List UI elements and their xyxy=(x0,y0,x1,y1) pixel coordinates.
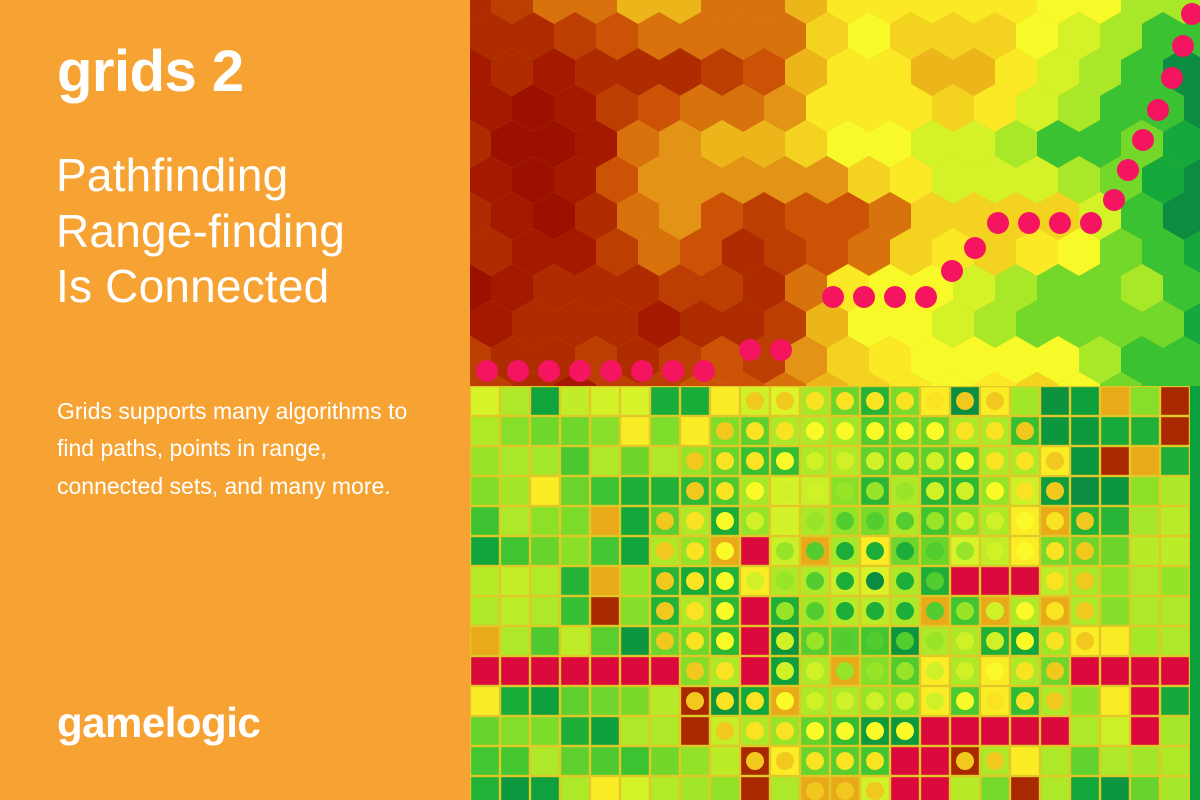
range-dot xyxy=(746,692,764,710)
grid-cell xyxy=(561,567,590,596)
grid-cell xyxy=(921,777,950,800)
range-dot xyxy=(836,782,854,800)
grid-cell xyxy=(1101,387,1130,416)
grid-cell xyxy=(711,387,740,416)
grid-cell xyxy=(531,627,560,656)
grid-cell xyxy=(1101,567,1130,596)
range-dot xyxy=(656,632,674,650)
grid-cell xyxy=(1131,747,1160,776)
grid-cell xyxy=(1071,777,1100,800)
path-dot xyxy=(915,286,937,308)
range-dot xyxy=(926,632,944,650)
range-dot xyxy=(986,452,1004,470)
grid-cell xyxy=(501,627,530,656)
range-dot xyxy=(1046,572,1064,590)
grid-cell xyxy=(471,747,500,776)
grid-cell xyxy=(501,777,530,800)
range-dot xyxy=(896,392,914,410)
grid-cell xyxy=(1131,777,1160,800)
path-dot xyxy=(1103,189,1125,211)
hex-pathfinding-demo xyxy=(470,0,1200,386)
range-dot xyxy=(866,512,884,530)
range-dot xyxy=(866,452,884,470)
grid-cell xyxy=(591,477,620,506)
range-dot xyxy=(686,572,704,590)
range-dot xyxy=(956,392,974,410)
grid-cell xyxy=(1131,567,1160,596)
range-dot xyxy=(956,512,974,530)
grid-cell xyxy=(591,747,620,776)
grid-cell xyxy=(561,507,590,536)
range-dot xyxy=(956,452,974,470)
grid-cell xyxy=(471,777,500,800)
range-dot xyxy=(836,512,854,530)
path-dot xyxy=(631,360,653,382)
grid-cell xyxy=(891,777,920,800)
grid-cell xyxy=(531,537,560,566)
range-dot xyxy=(956,692,974,710)
grid-cell xyxy=(591,627,620,656)
grid-cell xyxy=(621,687,650,716)
range-dot xyxy=(776,692,794,710)
grid-cell xyxy=(1101,447,1130,476)
grid-cell xyxy=(651,777,680,800)
path-dot xyxy=(822,286,844,308)
range-dot xyxy=(866,542,884,560)
grid-cell xyxy=(501,597,530,626)
grid-cell xyxy=(681,387,710,416)
grid-cell xyxy=(771,777,800,800)
grid-cell xyxy=(531,477,560,506)
grid-cell xyxy=(561,657,590,686)
grid-cell xyxy=(1071,717,1100,746)
grid-cell xyxy=(1101,747,1130,776)
square-range-finding-demo xyxy=(470,386,1200,800)
range-dot xyxy=(896,692,914,710)
range-dot xyxy=(716,602,734,620)
range-dot xyxy=(746,452,764,470)
grid-cell xyxy=(1071,417,1100,446)
path-dot xyxy=(569,360,591,382)
range-dot xyxy=(956,542,974,560)
grid-cell xyxy=(1011,717,1040,746)
range-dot xyxy=(776,722,794,740)
range-dot xyxy=(776,512,794,530)
path-dot xyxy=(538,360,560,382)
grid-cell xyxy=(1101,597,1130,626)
range-dot xyxy=(836,392,854,410)
range-dot xyxy=(1016,542,1034,560)
grid-cell xyxy=(621,417,650,446)
banner-root: grids 2 Pathfinding Range-finding Is Con… xyxy=(0,0,1200,800)
range-dot xyxy=(866,722,884,740)
range-dot xyxy=(956,422,974,440)
range-dot xyxy=(926,692,944,710)
grid-cell xyxy=(561,537,590,566)
grid-cell xyxy=(531,777,560,800)
range-dot xyxy=(836,572,854,590)
grid-cell xyxy=(501,717,530,746)
grid-cell xyxy=(1161,777,1190,800)
range-dot xyxy=(776,752,794,770)
range-dot xyxy=(746,422,764,440)
range-dot xyxy=(746,722,764,740)
path-dot xyxy=(1161,67,1183,89)
range-dot xyxy=(986,512,1004,530)
range-dot xyxy=(926,542,944,560)
grid-cell xyxy=(561,387,590,416)
range-dot xyxy=(806,422,824,440)
range-dot xyxy=(686,452,704,470)
grid-cell xyxy=(471,717,500,746)
grid-cell xyxy=(1161,747,1190,776)
path-dot xyxy=(476,360,498,382)
grid-cell xyxy=(501,507,530,536)
range-dot xyxy=(896,602,914,620)
range-dot xyxy=(1046,602,1064,620)
range-dot xyxy=(746,512,764,530)
range-dot xyxy=(866,392,884,410)
grid-cell xyxy=(471,507,500,536)
path-dot xyxy=(662,360,684,382)
range-dot xyxy=(776,572,794,590)
range-dot xyxy=(986,542,1004,560)
range-dot xyxy=(806,572,824,590)
grid-cell xyxy=(1041,417,1070,446)
grid-cell xyxy=(471,567,500,596)
path-dot xyxy=(739,339,761,361)
grid-cell xyxy=(1101,507,1130,536)
path-dot xyxy=(600,360,622,382)
grid-cell xyxy=(1131,627,1160,656)
grid-cell xyxy=(621,657,650,686)
grid-cell xyxy=(741,627,770,656)
range-dot xyxy=(926,572,944,590)
grid-cell xyxy=(1131,417,1160,446)
range-dot xyxy=(686,512,704,530)
grid-cell xyxy=(471,477,500,506)
grid-cell xyxy=(1161,477,1190,506)
range-dot xyxy=(926,602,944,620)
grid-cell xyxy=(1131,387,1160,416)
range-dot xyxy=(806,632,824,650)
range-dot xyxy=(1046,662,1064,680)
range-dot xyxy=(776,662,794,680)
grid-cell xyxy=(1011,777,1040,800)
range-dot xyxy=(776,632,794,650)
grid-cell xyxy=(621,507,650,536)
range-dot xyxy=(1046,452,1064,470)
grid-cell xyxy=(1161,717,1190,746)
grid-cell xyxy=(1071,657,1100,686)
grid-cell xyxy=(951,567,980,596)
range-dot xyxy=(656,602,674,620)
range-dot xyxy=(776,602,794,620)
range-dot xyxy=(656,512,674,530)
grid-cell xyxy=(921,717,950,746)
range-dot xyxy=(926,392,944,410)
range-dot xyxy=(686,662,704,680)
grid-cell xyxy=(651,387,680,416)
range-dot xyxy=(986,692,1004,710)
grid-cell xyxy=(1011,747,1040,776)
path-dot xyxy=(1172,35,1194,57)
range-dot xyxy=(746,572,764,590)
range-dot xyxy=(866,572,884,590)
grid-cell xyxy=(1131,687,1160,716)
range-dot xyxy=(746,392,764,410)
grid-cell xyxy=(501,747,530,776)
grid-cell xyxy=(501,657,530,686)
grid-cell xyxy=(681,777,710,800)
range-dot xyxy=(926,662,944,680)
range-dot xyxy=(1046,692,1064,710)
path-dot xyxy=(884,286,906,308)
range-dot xyxy=(956,482,974,500)
grid-cell xyxy=(981,777,1010,800)
grid-cell xyxy=(1041,747,1070,776)
range-dot xyxy=(986,482,1004,500)
range-dot xyxy=(956,752,974,770)
grid-cell xyxy=(711,777,740,800)
tagline-item-pathfinding: Pathfinding xyxy=(56,148,456,204)
range-dot xyxy=(716,572,734,590)
range-dot xyxy=(716,482,734,500)
grid-cell xyxy=(561,717,590,746)
range-dot xyxy=(986,392,1004,410)
grid-cell xyxy=(1101,627,1130,656)
range-dot xyxy=(1016,482,1034,500)
grid-cell xyxy=(561,477,590,506)
range-dot xyxy=(926,512,944,530)
range-dot xyxy=(776,392,794,410)
range-dot xyxy=(1076,572,1094,590)
range-dot xyxy=(836,632,854,650)
range-dot xyxy=(866,662,884,680)
grid-cell xyxy=(501,567,530,596)
grid-cell xyxy=(531,507,560,536)
range-dot xyxy=(1016,422,1034,440)
path-dot xyxy=(1049,212,1071,234)
grid-cell xyxy=(561,777,590,800)
grid-cell xyxy=(981,567,1010,596)
tagline-item-range-finding: Range-finding xyxy=(56,204,456,260)
grid-cell xyxy=(681,747,710,776)
grid-cell xyxy=(531,417,560,446)
grid-cell xyxy=(591,387,620,416)
grid-cell xyxy=(1011,567,1040,596)
path-dot xyxy=(1117,159,1139,181)
range-dot xyxy=(686,542,704,560)
range-dot xyxy=(1016,692,1034,710)
grid-cell xyxy=(981,717,1010,746)
grid-cell xyxy=(621,567,650,596)
range-dot xyxy=(716,452,734,470)
grid-cell xyxy=(561,417,590,446)
range-dot xyxy=(836,722,854,740)
range-dot xyxy=(926,452,944,470)
range-dot xyxy=(1016,632,1034,650)
grid-cell xyxy=(1131,507,1160,536)
range-dot xyxy=(986,602,1004,620)
grid-cell xyxy=(651,687,680,716)
range-dot xyxy=(836,692,854,710)
range-dot xyxy=(986,632,1004,650)
range-dot xyxy=(716,692,734,710)
hex-grid-svg xyxy=(470,0,1200,386)
grid-cell xyxy=(1161,507,1190,536)
range-dot xyxy=(836,422,854,440)
grid-cell xyxy=(1131,537,1160,566)
grid-cell xyxy=(591,537,620,566)
grid-cell xyxy=(591,417,620,446)
grid-cell xyxy=(501,687,530,716)
grid-cell xyxy=(501,417,530,446)
grid-cell xyxy=(1101,777,1130,800)
grid-cell xyxy=(1161,597,1190,626)
range-dot xyxy=(686,692,704,710)
grid-cell xyxy=(501,537,530,566)
range-dot xyxy=(896,542,914,560)
range-dot xyxy=(776,452,794,470)
path-dot xyxy=(770,339,792,361)
range-dot xyxy=(896,632,914,650)
grid-cell xyxy=(621,777,650,800)
grid-cell xyxy=(1101,687,1130,716)
range-dot xyxy=(896,572,914,590)
grid-cell xyxy=(561,747,590,776)
path-dot xyxy=(964,237,986,259)
grid-cell xyxy=(561,687,590,716)
range-dot xyxy=(896,482,914,500)
grid-cell xyxy=(621,717,650,746)
grid-cell xyxy=(471,627,500,656)
grid-cell xyxy=(651,717,680,746)
grid-cell xyxy=(561,597,590,626)
description-text: Grids supports many algorithms to find p… xyxy=(57,393,427,505)
grid-cell xyxy=(531,687,560,716)
range-dot xyxy=(806,722,824,740)
grid-cell xyxy=(591,447,620,476)
range-dot xyxy=(806,452,824,470)
grid-cell xyxy=(1161,657,1190,686)
grid-cell xyxy=(531,567,560,596)
grid-cell xyxy=(501,387,530,416)
grid-cell xyxy=(1161,627,1190,656)
right-visual-panel xyxy=(470,0,1200,800)
grid-cell xyxy=(1101,537,1130,566)
grid-cell xyxy=(651,747,680,776)
range-dot xyxy=(896,662,914,680)
range-dot xyxy=(806,482,824,500)
range-dot xyxy=(836,602,854,620)
range-dot xyxy=(836,482,854,500)
grid-cell xyxy=(531,657,560,686)
range-dot xyxy=(866,482,884,500)
grid-cell xyxy=(621,627,650,656)
grid-cell xyxy=(1071,687,1100,716)
range-dot xyxy=(806,392,824,410)
range-dot xyxy=(1076,542,1094,560)
range-dot xyxy=(836,452,854,470)
grid-cell xyxy=(1131,657,1160,686)
range-dot xyxy=(1016,662,1034,680)
range-dot xyxy=(896,512,914,530)
grid-cell xyxy=(951,777,980,800)
grid-cell xyxy=(621,747,650,776)
range-dot xyxy=(806,752,824,770)
range-dot xyxy=(776,482,794,500)
grid-cell xyxy=(1161,687,1190,716)
grid-cell xyxy=(471,447,500,476)
range-dot xyxy=(806,692,824,710)
range-dot xyxy=(836,752,854,770)
path-dot xyxy=(1080,212,1102,234)
grid-cell xyxy=(1161,537,1190,566)
tagline-list: Pathfinding Range-finding Is Connected xyxy=(56,148,456,315)
grid-cell xyxy=(471,417,500,446)
page-title: grids 2 xyxy=(57,43,244,101)
range-dot xyxy=(1076,512,1094,530)
grid-cell xyxy=(531,747,560,776)
grid-cell xyxy=(1101,717,1130,746)
grid-cell xyxy=(591,507,620,536)
grid-cell xyxy=(741,657,770,686)
grid-cell xyxy=(531,717,560,746)
grid-cell xyxy=(621,387,650,416)
grid-cell xyxy=(531,447,560,476)
grid-cell xyxy=(651,477,680,506)
grid-cell xyxy=(561,627,590,656)
range-dot xyxy=(866,632,884,650)
range-dot xyxy=(806,602,824,620)
range-dot xyxy=(1016,512,1034,530)
grid-cell xyxy=(651,447,680,476)
grid-cell xyxy=(1131,477,1160,506)
range-dot xyxy=(1016,602,1034,620)
grid-cell xyxy=(1071,447,1100,476)
grid-cell xyxy=(591,567,620,596)
grid-cell xyxy=(1161,387,1190,416)
range-dot xyxy=(1076,602,1094,620)
range-dot xyxy=(956,662,974,680)
left-info-panel: grids 2 Pathfinding Range-finding Is Con… xyxy=(0,0,470,800)
grid-cell xyxy=(1161,417,1190,446)
grid-cell xyxy=(561,447,590,476)
range-dot xyxy=(716,542,734,560)
range-dot xyxy=(866,602,884,620)
range-dot xyxy=(1046,542,1064,560)
grid-cell xyxy=(1041,387,1070,416)
grid-cell xyxy=(1011,387,1040,416)
grid-cell xyxy=(471,597,500,626)
range-dot xyxy=(1076,632,1094,650)
grid-cell xyxy=(651,657,680,686)
grid-cell xyxy=(591,597,620,626)
path-dot xyxy=(1147,99,1169,121)
range-dot xyxy=(776,542,794,560)
grid-cell xyxy=(501,447,530,476)
grid-cell xyxy=(1131,597,1160,626)
range-dot xyxy=(986,422,1004,440)
range-dot xyxy=(656,542,674,560)
range-dot xyxy=(836,662,854,680)
grid-cell xyxy=(651,417,680,446)
path-dot xyxy=(853,286,875,308)
grid-cell xyxy=(741,537,770,566)
range-dot xyxy=(716,632,734,650)
grid-cell xyxy=(741,777,770,800)
